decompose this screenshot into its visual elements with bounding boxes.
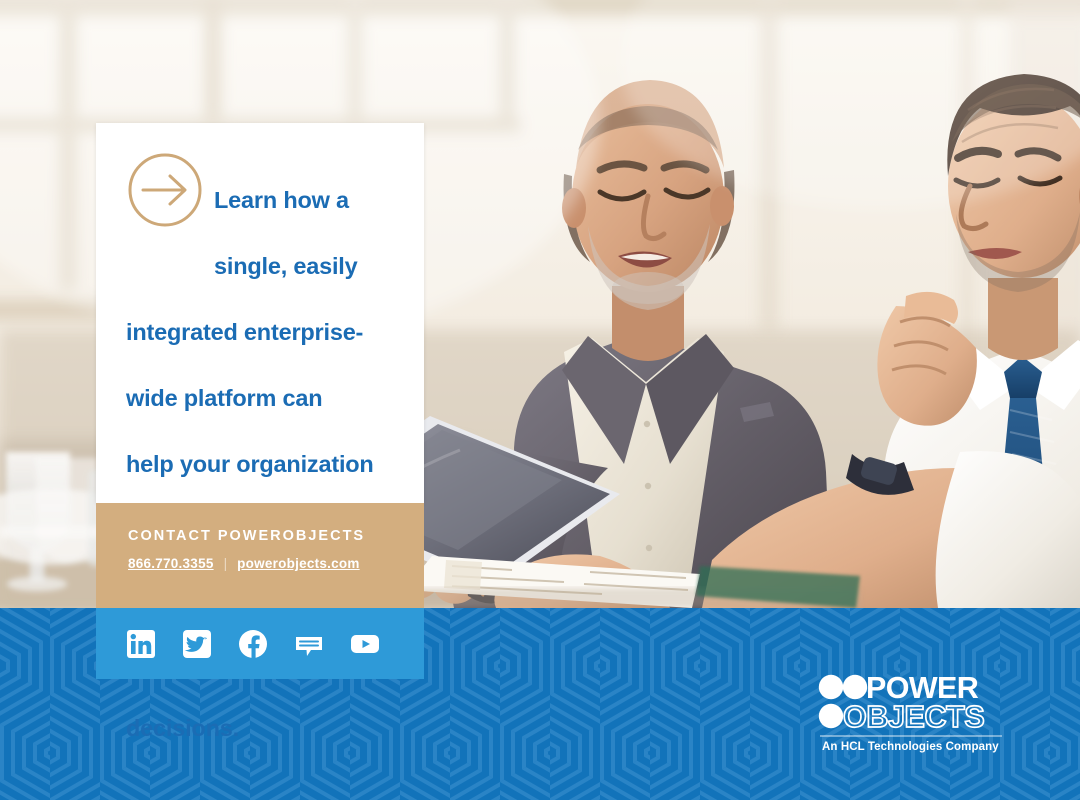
ad-canvas: Learn how a single, easily integrated en…	[0, 0, 1080, 800]
social-link-twitter[interactable]	[182, 629, 212, 659]
social-link-facebook[interactable]	[238, 629, 268, 659]
blog-comment-icon	[294, 629, 324, 659]
logo-word-objects: OBJECTS	[843, 700, 984, 734]
arrow-right-circle-icon	[126, 151, 204, 229]
logo-dot-1	[819, 675, 843, 699]
logo-tagline: An HCL Technologies Company	[822, 741, 999, 753]
twitter-icon	[182, 629, 212, 659]
powerobjects-logo-artwork: POWER OBJECTS An HCL Technologies Compan…	[818, 672, 1004, 754]
headline-line-3: integrated enterprise-	[126, 316, 394, 349]
social-link-youtube[interactable]	[350, 629, 380, 659]
page-title: Learn how a single, easily integrated en…	[126, 151, 394, 778]
contact-website-link[interactable]: powerobjects.com	[237, 556, 360, 571]
social-link-linkedin[interactable]	[126, 629, 156, 659]
headline-line-9: decisions.	[126, 712, 394, 745]
contact-phone[interactable]: 866.770.3355	[128, 556, 214, 571]
linkedin-icon	[126, 629, 156, 659]
facebook-icon	[238, 629, 268, 659]
youtube-icon	[350, 629, 380, 659]
contact-band: CONTACT POWEROBJECTS 866.770.3355 | powe…	[96, 503, 424, 608]
headline-card: Learn how a single, easily integrated en…	[96, 123, 424, 503]
contact-title: CONTACT POWEROBJECTS	[128, 528, 424, 544]
logo-dot-3	[819, 704, 843, 728]
contact-details: 866.770.3355 | powerobjects.com	[128, 556, 424, 571]
social-bar	[96, 608, 424, 679]
headline-line-2: single, easily	[126, 250, 394, 283]
powerobjects-logo: POWER OBJECTS An HCL Technologies Compan…	[818, 672, 1004, 754]
headline-line-4: wide platform can	[126, 382, 394, 415]
logo-dot-2	[843, 675, 867, 699]
contact-separator: |	[224, 556, 228, 571]
headline-line-5: help your organization	[126, 448, 394, 481]
social-link-blog[interactable]	[294, 629, 324, 659]
